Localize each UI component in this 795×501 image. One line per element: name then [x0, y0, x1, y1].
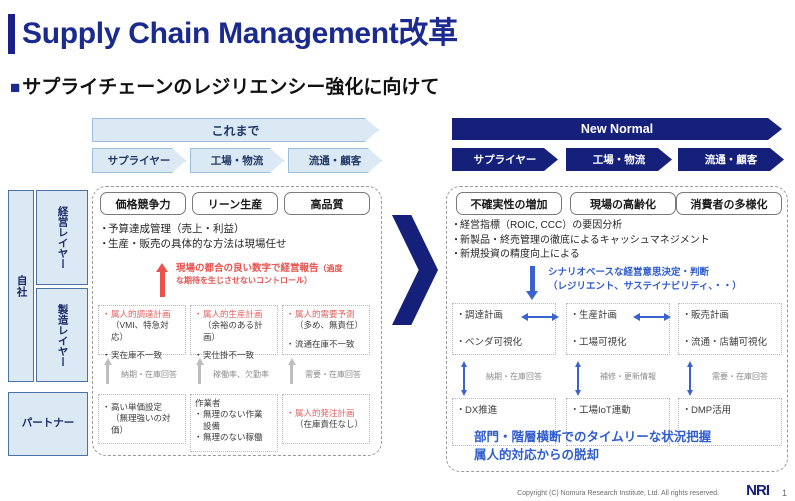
right-tag-uncertainty-label: 不確実性の増加: [471, 196, 548, 212]
left-tag-price-label: 価格競争力: [116, 196, 171, 212]
transition-chevron-icon: [392, 215, 438, 325]
left-stage-supplier: サプライヤー: [92, 148, 186, 173]
sidebar-partner-label: パートナー: [22, 417, 75, 430]
right-mid-cell-2: 販売計画 流通・店舗可視化: [678, 303, 782, 355]
right-blue-note-line1: シナリオベースな経営意思決定・判断: [548, 266, 742, 280]
subtitle-text: サプライチェーンのレジリエンシー強化に向けて: [22, 77, 439, 98]
sidebar-company-label: 自社: [14, 275, 27, 298]
right-mid-bidir-arrow-1-icon: [639, 316, 665, 318]
right-conclusion-line1: 部門・階層横断でのタイムリーな状況把握: [474, 428, 711, 446]
title-accent-bar: [8, 14, 15, 54]
left-mid-cell-1-red: 属人的生産計画: [195, 309, 273, 320]
left-red-note-line1: 現場の都合の良い数字で経営報告: [176, 263, 319, 274]
right-conclusion-line2: 属人的対応からの脱却: [474, 446, 711, 464]
left-mid-cell-2-red-sub: （多め、無責任）: [287, 320, 365, 331]
left-red-note-line3: な期待を生じさせないコントロール）: [176, 275, 343, 286]
left-mid-cell-0-gray: 実在庫不一致: [103, 350, 181, 361]
right-stage-supplier-label: サプライヤー: [474, 152, 537, 167]
right-banner-label: New Normal: [581, 122, 653, 136]
left-mid-cell-2: 属人的需要予測 （多め、無責任） 流通在庫不一致: [282, 305, 370, 355]
left-partner-cell-1: 作業者 無理のない作業 設備 無理のない稼働: [190, 394, 278, 452]
left-partner-cell-1-line-1: 無理のない作業: [195, 409, 273, 420]
right-mid-cell-0-bottom: ベンダ可視化: [457, 337, 551, 350]
right-partner-cell-2-label: DMP活用: [683, 405, 777, 418]
left-stage-distribution: 流通・顧客: [288, 148, 382, 173]
right-management-bullet-0: 経営指標（ROIC, CCC）の要因分析: [452, 219, 710, 234]
sidebar-company: 自社: [8, 190, 34, 382]
left-mid-cell-2-red: 属人的需要予測: [287, 309, 365, 320]
left-partner-cell-2: 属人的発注計画 （在庫責任なし）: [282, 394, 370, 444]
right-stage-factory: 工場・物流: [566, 148, 672, 171]
right-tag-uncertainty: 不確実性の増加: [456, 192, 562, 215]
right-tag-aging-label: 現場の高齢化: [590, 196, 656, 212]
left-partner-cell-2-line-0: 属人的発注計画: [287, 408, 365, 419]
left-stage-distribution-label: 流通・顧客: [309, 153, 362, 168]
right-tag-diversity-label: 消費者の多様化: [691, 196, 768, 212]
left-stage-supplier-label: サプライヤー: [108, 153, 171, 168]
left-tag-price: 価格競争力: [100, 192, 186, 215]
right-mid-cell-1: 生産計画 工場可視化: [566, 303, 670, 355]
right-tag-aging: 現場の高齢化: [570, 192, 676, 215]
right-blue-down-arrow-icon: [530, 266, 535, 292]
left-partner-cell-1-line-2: 設備: [195, 421, 273, 432]
left-tag-lean-label: リーン生産: [208, 196, 262, 212]
right-mid-bidir-arrow-0-icon: [527, 316, 553, 318]
right-flow-arrow-0-icon: [463, 366, 465, 391]
left-partner-cell-0-line-0: 高い単価設定: [103, 402, 181, 413]
title-text: Supply Chain Management改革: [22, 19, 458, 49]
page-number: 1: [782, 488, 787, 498]
right-flow-label-1: 補修・更新情報: [586, 371, 670, 382]
left-red-up-arrow-icon: [160, 271, 165, 297]
left-flow-label-0: 納期・在庫回答: [112, 369, 186, 380]
footer: Copyright (C) Nomura Research Institute,…: [0, 481, 795, 501]
left-flow-label-2: 需要・在庫回答: [296, 369, 370, 380]
page-title: Supply Chain Management改革: [8, 14, 458, 54]
left-banner-label: これまで: [211, 122, 259, 139]
left-partner-cell-0-line-1: （無理強いの対価）: [103, 413, 181, 436]
left-partner-cell-1-line-0: 作業者: [195, 398, 273, 409]
left-flow-label-1: 稼働率、欠勤率: [204, 369, 278, 380]
right-management-bullet-2: 新規投資の精度向上による: [452, 248, 710, 263]
left-mid-cell-0-red-sub: （VMI、特急対応）: [103, 320, 181, 343]
right-stage-supplier: サプライヤー: [452, 148, 558, 171]
right-mid-cell-0: 調達計画 ベンダ可視化: [452, 303, 556, 355]
left-mid-cell-1-red-sub: （余裕のある計画）: [195, 320, 273, 343]
right-management-bullet-1: 新製品・終売管理の徹底によるキャッシュマネジメント: [452, 234, 710, 249]
right-stage-distribution-label: 流通・顧客: [705, 152, 758, 167]
left-mid-cell-0: 属人的調達計画 （VMI、特急対応） 実在庫不一致: [98, 305, 186, 355]
left-flow-arrow-0-icon: [106, 364, 109, 384]
subtitle-bullet-icon: ■: [10, 78, 20, 97]
right-stage-factory-label: 工場・物流: [593, 152, 646, 167]
left-banner: これまで: [92, 118, 379, 142]
right-conclusion: 部門・階層横断でのタイムリーな状況把握 属人的対応からの脱却: [474, 428, 711, 464]
left-tag-quality: 高品質: [284, 192, 370, 215]
sidebar-partner: パートナー: [8, 392, 88, 456]
left-mid-cell-2-gray: 流通在庫不一致: [287, 339, 365, 350]
right-blue-note: シナリオベースな経営意思決定・判断 （レジリエント、サステイナビリティ、・・）: [548, 266, 742, 294]
sidebar-layer-manufacturing: 製造レイヤー: [36, 288, 88, 382]
left-mid-cell-0-red: 属人的調達計画: [103, 309, 181, 320]
left-mid-cell-1: 属人的生産計画 （余裕のある計画） 実仕掛不一致: [190, 305, 278, 355]
left-partner-cell-2-line-1: （在庫責任なし）: [287, 419, 365, 430]
slide-root: Supply Chain Management改革 ■サプライチェーンのレジリエ…: [0, 0, 795, 501]
left-stage-factory: 工場・物流: [190, 148, 284, 173]
left-partner-cell-0: 高い単価設定 （無理強いの対価）: [98, 394, 186, 444]
right-tag-diversity: 消費者の多様化: [676, 192, 782, 215]
left-flow-arrow-2-icon: [290, 364, 293, 384]
left-red-note-line2: （過度: [319, 264, 343, 273]
right-banner: New Normal: [452, 118, 782, 140]
right-partner-cell-1-label: 工場IoT連動: [571, 405, 665, 418]
right-stage-distribution: 流通・顧客: [678, 148, 784, 171]
right-flow-label-2: 需要・在庫回答: [698, 371, 782, 382]
left-flow-arrow-1-icon: [198, 364, 201, 384]
right-blue-note-line2: （レジリエント、サステイナビリティ、・・）: [548, 280, 742, 294]
copyright-text: Copyright (C) Nomura Research Institute,…: [517, 490, 719, 497]
left-red-note: 現場の都合の良い数字で経営報告（過度 な期待を生じさせないコントロール）: [176, 262, 343, 286]
left-management-bullets: 予算達成管理（売上・利益） 生産・販売の具体的な方法は現場任せ: [100, 222, 287, 252]
left-tag-lean: リーン生産: [192, 192, 278, 215]
left-stage-factory-label: 工場・物流: [211, 153, 264, 168]
right-partner-cell-0-label: DX推進: [457, 405, 551, 418]
right-flow-label-0: 納期・在庫回答: [472, 371, 556, 382]
sidebar-layer-management: 経営レイヤー: [36, 190, 88, 285]
sidebar-layer-management-label: 経営レイヤー: [55, 206, 68, 269]
right-flow-arrow-1-icon: [577, 366, 579, 391]
right-flow-arrow-2-icon: [689, 366, 691, 391]
sidebar-layer-manufacturing-label: 製造レイヤー: [55, 304, 68, 367]
right-mid-cell-1-bottom: 工場可視化: [571, 337, 665, 350]
nri-logo: NRI: [746, 482, 769, 499]
right-management-bullets: 経営指標（ROIC, CCC）の要因分析 新製品・終売管理の徹底によるキャッシュ…: [452, 219, 710, 263]
left-management-bullet-1: 生産・販売の具体的な方法は現場任せ: [100, 237, 287, 252]
left-mid-cell-1-gray: 実仕掛不一致: [195, 350, 273, 361]
right-mid-cell-2-top: 販売計画: [683, 310, 777, 323]
left-management-bullet-0: 予算達成管理（売上・利益）: [100, 222, 287, 237]
left-partner-cell-1-line-3: 無理のない稼働: [195, 432, 273, 443]
left-tag-quality-label: 高品質: [311, 196, 344, 212]
subtitle: ■サプライチェーンのレジリエンシー強化に向けて: [10, 72, 439, 99]
right-mid-cell-2-bottom: 流通・店舗可視化: [683, 337, 777, 350]
